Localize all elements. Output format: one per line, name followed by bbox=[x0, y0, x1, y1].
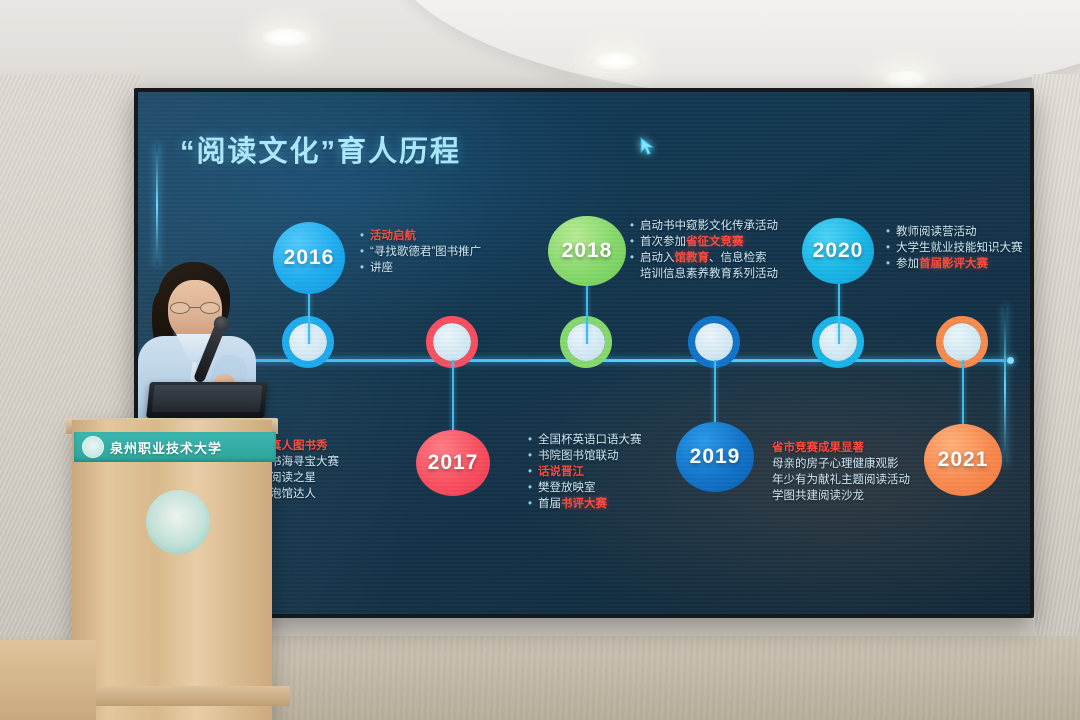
podium bbox=[72, 420, 272, 720]
timeline-node-2021[interactable] bbox=[943, 323, 981, 361]
timeline-bubble-2017[interactable]: 2017 bbox=[416, 430, 490, 496]
slide-right-accent-line bbox=[1004, 306, 1006, 466]
item-suffix: 、信息检索 bbox=[709, 252, 767, 264]
item-prefix: 首次参加 bbox=[640, 236, 686, 248]
page-title: “阅读文化”育人历程 bbox=[180, 128, 461, 170]
timeline-node-2017[interactable] bbox=[433, 323, 471, 361]
timeline-node-2019[interactable] bbox=[695, 323, 733, 361]
item-prefix: 启动入 bbox=[640, 252, 675, 264]
side-table bbox=[0, 640, 96, 720]
item-highlight: 省征文竞赛 bbox=[686, 236, 744, 248]
timeline-axis bbox=[236, 359, 1006, 362]
university-seal-icon bbox=[82, 436, 104, 458]
timeline-bubble-2020[interactable]: 2020 bbox=[802, 218, 874, 284]
laptop[interactable] bbox=[146, 382, 268, 418]
timeline-items-2019: •全国杯英语口语大赛 •书院图书馆联动 •话说晋江 •樊登放映室 •首届书评大赛 bbox=[528, 432, 642, 512]
item-highlight: 首届影评大赛 bbox=[919, 258, 988, 270]
timeline-bubble-2021[interactable]: 2021 bbox=[924, 424, 1002, 496]
timeline-items-2020: •教师阅读营活动 •大学生就业技能知识大赛 •参加首届影评大赛 bbox=[886, 224, 1023, 272]
timeline-bubble-2016[interactable]: 2016 bbox=[273, 222, 345, 294]
timeline-items-2016: •活动启航 •“寻找歌德君”图书推广 •讲座 bbox=[360, 228, 481, 276]
item-prefix: 首届 bbox=[538, 498, 561, 510]
timeline-stem-2021 bbox=[962, 360, 964, 426]
podium-name-banner: 泉州职业技术大学 bbox=[74, 432, 276, 462]
timeline-stem-2018 bbox=[586, 282, 588, 344]
timeline-axis-end-dot bbox=[1007, 357, 1014, 364]
glasses-icon bbox=[170, 302, 220, 314]
timeline-bubble-2018[interactable]: 2018 bbox=[548, 216, 626, 286]
item-highlight: 馆教育 bbox=[675, 252, 710, 264]
ceiling-downlight bbox=[590, 52, 642, 72]
ceiling-downlight bbox=[260, 28, 312, 48]
timeline-bubble-2019[interactable]: 2019 bbox=[676, 422, 754, 492]
slide-left-accent-line bbox=[156, 144, 158, 266]
ceiling-downlight bbox=[880, 70, 932, 90]
right-wall-panel bbox=[1032, 74, 1080, 674]
timeline-stem-2020 bbox=[838, 282, 840, 344]
timeline-items-2018: •启动书中窥影文化传承活动 •首次参加省征文竞赛 •启动入馆教育、信息检索 •培… bbox=[630, 218, 778, 282]
timeline-stem-2017 bbox=[452, 360, 454, 432]
timeline-items-2021: •省市竞赛成果显著 •母亲的房子心理健康观影 •年少有为献礼主题阅读活动 •学图… bbox=[762, 440, 910, 504]
podium-emblem-icon bbox=[146, 490, 210, 554]
item-highlight: 书评大赛 bbox=[561, 498, 607, 510]
conference-room-scene: “阅读文化”育人历程 bbox=[0, 0, 1080, 720]
timeline-stem-2019 bbox=[714, 360, 716, 424]
item-prefix: 参加 bbox=[896, 258, 919, 270]
podium-university-name: 泉州职业技术大学 bbox=[110, 438, 222, 457]
